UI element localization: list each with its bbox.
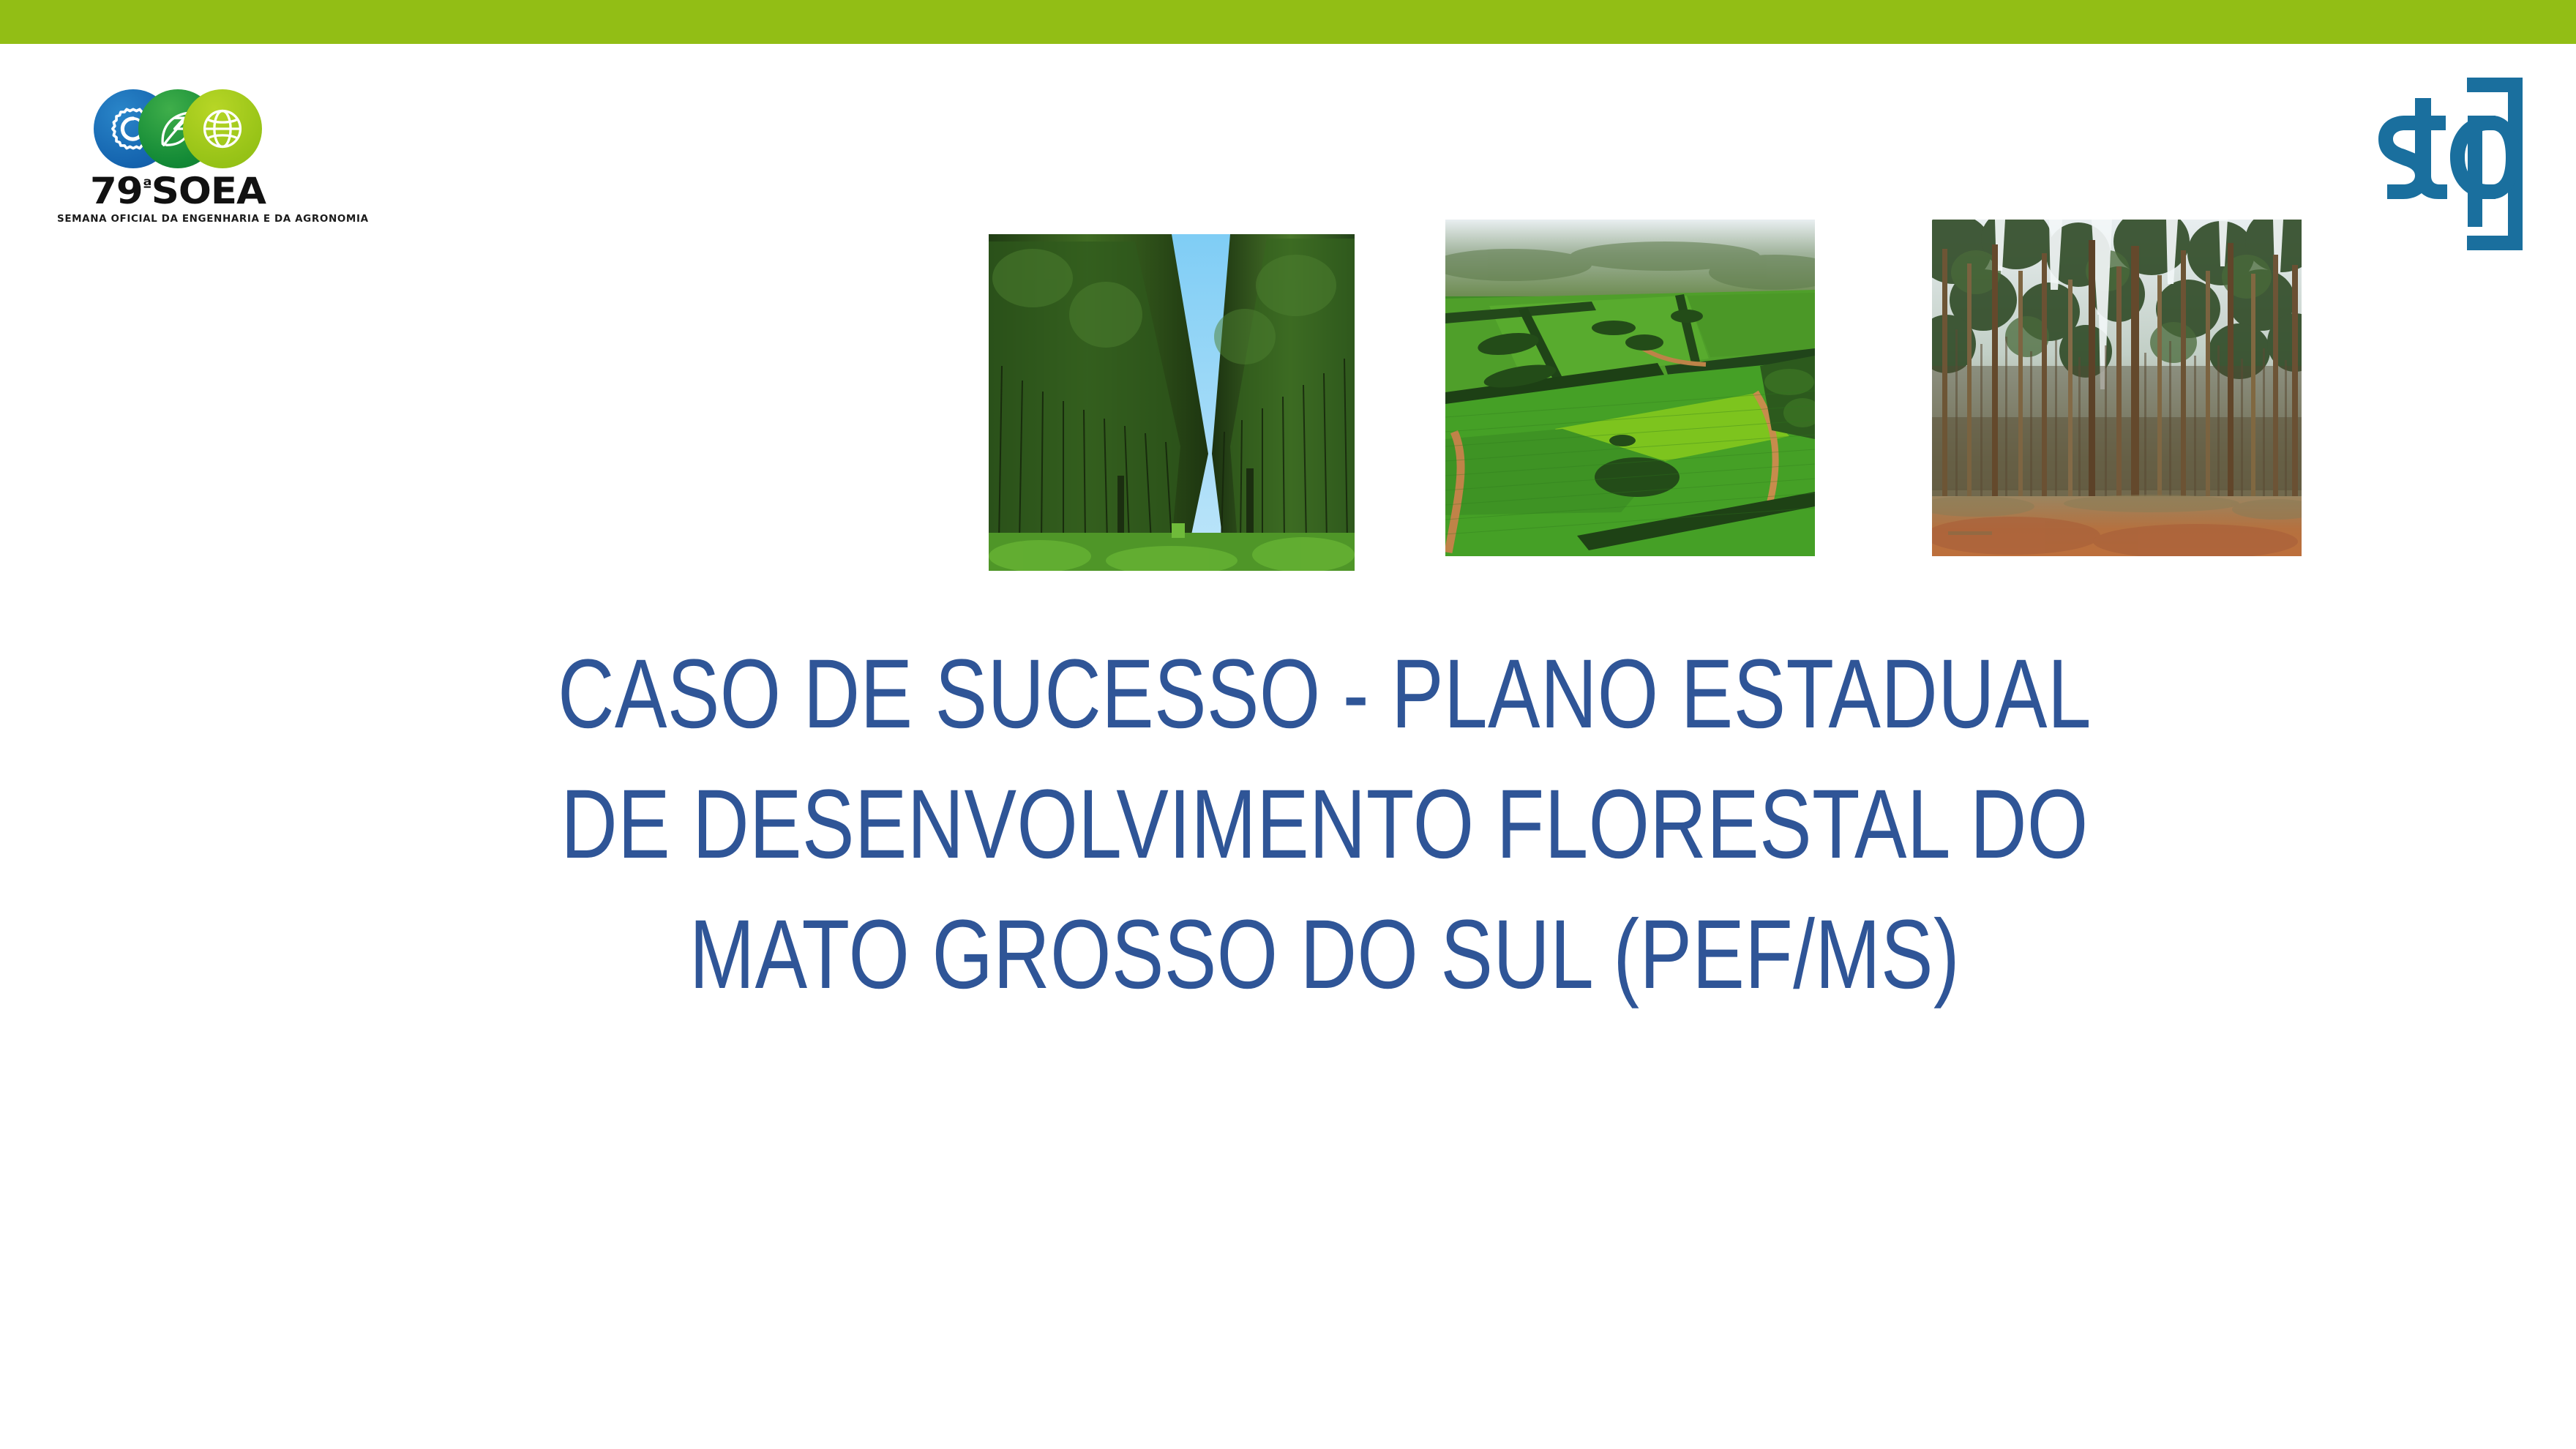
photo-aerial-plantation [1445, 220, 1815, 556]
page-title-line-3: MATO GROSSO DO SUL (PEF/MS) [458, 890, 2191, 1020]
photo-aerial-plantation-image [1445, 220, 1815, 556]
photo-eucalyptus-corridor [989, 234, 1355, 571]
soea-logo: 79ªSOEA SEMANA OFICIAL DA ENGENHARIA E D… [57, 89, 299, 243]
stcp-logo [2370, 73, 2527, 255]
page-title-line-1: CASO DE SUCESSO - PLANO ESTADUAL [458, 629, 2191, 760]
soea-circle-lime [183, 89, 262, 168]
photo-eucalyptus-stand-interior [1932, 220, 2302, 556]
soea-wordmark-name: SOEA [151, 170, 266, 212]
stcp-wordmark-icon [2370, 73, 2527, 255]
green-accent-bar [0, 0, 2576, 44]
photo-eucalyptus-stand-interior-image [1932, 220, 2302, 556]
globe-icon [195, 102, 250, 156]
page-title-line-2: DE DESENVOLVIMENTO FLORESTAL DO [458, 760, 2191, 890]
page-title: CASO DE SUCESSO - PLANO ESTADUAL DE DESE… [458, 629, 2191, 1021]
soea-tagline: SEMANA OFICIAL DA ENGENHARIA E DA AGRONO… [57, 213, 299, 225]
soea-wordmark-ordinal: ª [143, 176, 151, 195]
soea-logo-circles [94, 89, 262, 168]
photo-eucalyptus-corridor-image [989, 234, 1355, 571]
soea-wordmark-number: 79 [90, 170, 143, 212]
soea-wordmark: 79ªSOEA [50, 173, 306, 209]
